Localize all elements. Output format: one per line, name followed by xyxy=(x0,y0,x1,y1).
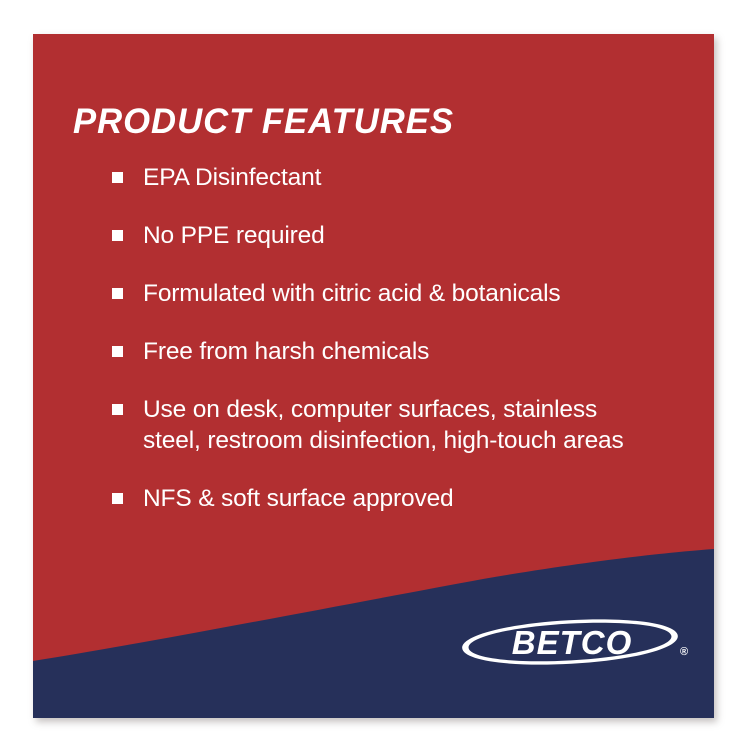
page-title: PRODUCT FEATURES xyxy=(73,102,454,142)
list-item-label: No PPE required xyxy=(143,220,682,251)
list-item: NFS & soft surface approved xyxy=(112,483,682,514)
square-bullet-icon xyxy=(112,172,123,183)
square-bullet-icon xyxy=(112,404,123,415)
list-item-label: Formulated with citric acid & botanicals xyxy=(143,278,682,309)
square-bullet-icon xyxy=(112,230,123,241)
square-bullet-icon xyxy=(112,346,123,357)
list-item: No PPE required xyxy=(112,220,682,251)
betco-logo: BETCO ® xyxy=(452,615,697,669)
registered-trademark-icon: ® xyxy=(680,646,688,658)
list-item-label: Free from harsh chemicals xyxy=(143,336,682,367)
list-item-label: EPA Disinfectant xyxy=(143,162,682,193)
list-item: EPA Disinfectant xyxy=(112,162,682,193)
square-bullet-icon xyxy=(112,493,123,504)
brand-wordmark: BETCO xyxy=(512,624,633,661)
square-bullet-icon xyxy=(112,288,123,299)
list-item: Formulated with citric acid & botanicals xyxy=(112,278,682,309)
list-item-label: NFS & soft surface approved xyxy=(143,483,682,514)
list-item-label: Use on desk, computer surfaces, stainles… xyxy=(143,394,682,456)
feature-list: EPA Disinfectant No PPE required Formula… xyxy=(112,162,682,514)
product-features-card: PRODUCT FEATURES EPA Disinfectant No PPE… xyxy=(33,34,714,718)
list-item: Use on desk, computer surfaces, stainles… xyxy=(112,394,682,456)
list-item: Free from harsh chemicals xyxy=(112,336,682,367)
